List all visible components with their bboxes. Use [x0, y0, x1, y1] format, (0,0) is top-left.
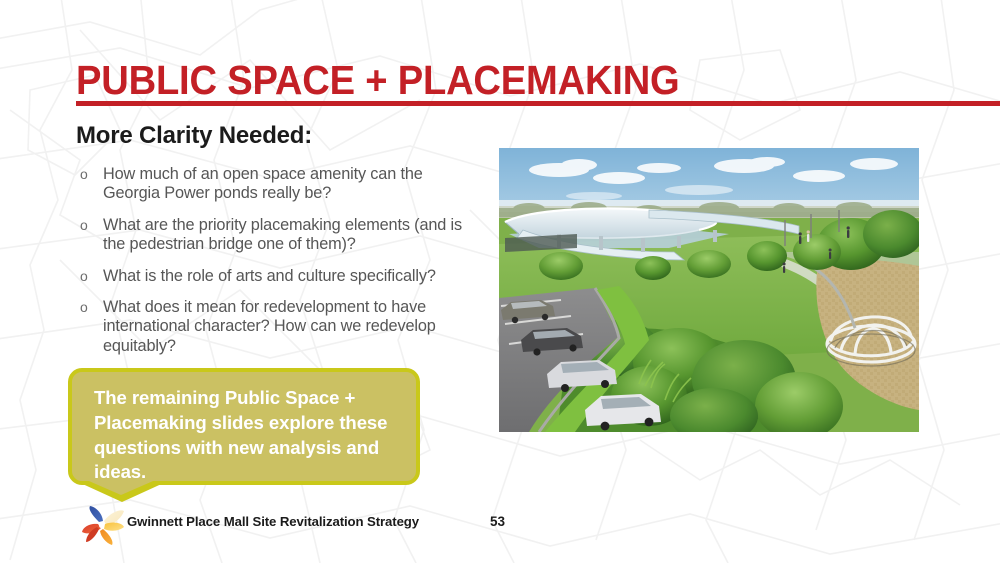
list-item: o What are the priority placemaking elem…: [76, 216, 476, 255]
footer-project-title: Gwinnett Place Mall Site Revitalization …: [127, 514, 419, 529]
list-item: o What is the role of arts and culture s…: [76, 267, 476, 286]
question-list: o How much of an open space amenity can …: [76, 165, 476, 356]
list-item-text: What does it mean for redevelopment to h…: [103, 298, 436, 355]
list-item-text: What are the priority placemaking elemen…: [103, 216, 462, 253]
rendering-image: [499, 148, 919, 432]
callout-text: The remaining Public Space + Placemaking…: [72, 372, 416, 485]
list-item: o How much of an open space amenity can …: [76, 165, 476, 204]
list-item-text: What is the role of arts and culture spe…: [103, 267, 436, 285]
title-divider: [76, 101, 1000, 106]
list-item: o What does it mean for redevelopment to…: [76, 298, 476, 356]
presentation-slide: PUBLIC SPACE + PLACEMAKING More Clarity …: [0, 0, 1000, 563]
content-left-column: More Clarity Needed: o How much of an op…: [76, 122, 476, 368]
circle-bullet-icon: o: [80, 267, 88, 286]
callout-tail-fill: [82, 478, 160, 495]
circle-bullet-icon: o: [80, 298, 88, 317]
circle-bullet-icon: o: [80, 216, 88, 235]
callout-box: The remaining Public Space + Placemaking…: [68, 368, 420, 485]
circle-bullet-icon: o: [80, 165, 88, 184]
section-subheading: More Clarity Needed:: [76, 122, 476, 150]
slide-footer: Gwinnett Place Mall Site Revitalization …: [0, 501, 1000, 549]
page-number: 53: [490, 514, 505, 529]
page-title: PUBLIC SPACE + PLACEMAKING: [76, 58, 680, 102]
gwinnett-place-pinwheel-logo-icon: [78, 503, 126, 547]
list-item-text: How much of an open space amenity can th…: [103, 165, 423, 202]
